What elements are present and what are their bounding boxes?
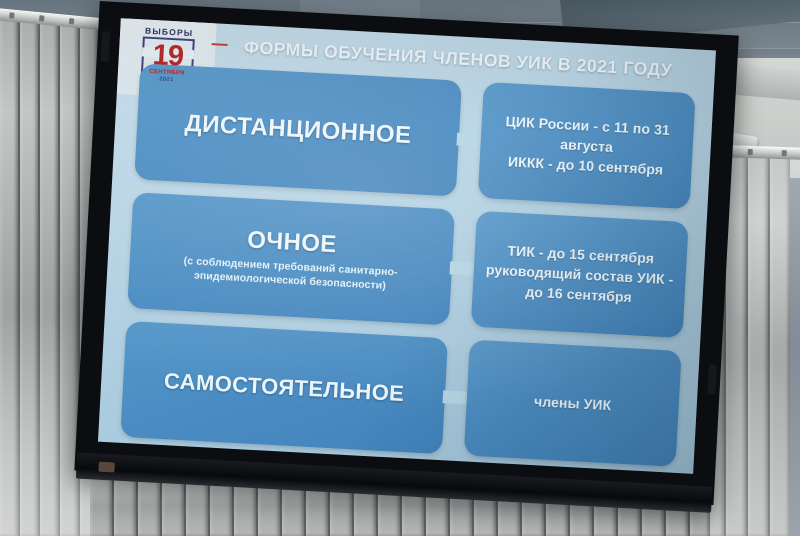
screen-clip bbox=[101, 31, 111, 61]
photo-scene: ВЫБОРЫ 19 СЕНТЯБРЯ 2021 ФОРМЫ ОБУЧЕНИЯ Ч… bbox=[0, 0, 800, 536]
projection-screen: ВЫБОРЫ 19 СЕНТЯБРЯ 2021 ФОРМЫ ОБУЧЕНИЯ Ч… bbox=[73, 1, 739, 527]
logo-day-number: 19 bbox=[143, 40, 193, 73]
form-box: САМОСТОЯТЕЛЬНОЕ bbox=[120, 321, 448, 454]
diagram-row: ДИСТАНЦИОННОЕ ЦИК России - с 11 по 31 ав… bbox=[134, 63, 695, 209]
diagram-row: САМОСТОЯТЕЛЬНОЕ члены УИК bbox=[120, 321, 681, 467]
deadline-line: члены УИК bbox=[534, 391, 612, 415]
form-name: ДИСТАНЦИОННОЕ bbox=[184, 111, 412, 148]
form-note: (с соблюдением требований санитарно-эпид… bbox=[139, 251, 442, 295]
slide-canvas: ВЫБОРЫ 19 СЕНТЯБРЯ 2021 ФОРМЫ ОБУЧЕНИЯ Ч… bbox=[98, 18, 716, 474]
deadline-box: ТИК - до 15 сентября руководящий состав … bbox=[471, 211, 689, 338]
form-box: ОЧНОЕ (с соблюдением требований санитарн… bbox=[127, 192, 455, 325]
form-name: ОЧНОЕ bbox=[247, 228, 338, 258]
deadline-box: ЦИК России - с 11 по 31 августа ИККК - д… bbox=[478, 82, 696, 209]
screen-bar-nub bbox=[98, 462, 115, 473]
logo-frame: 19 СЕНТЯБРЯ 2021 bbox=[140, 36, 195, 87]
screen-clip bbox=[707, 365, 717, 395]
deadline-box: члены УИК bbox=[464, 340, 682, 467]
diagram-rows: ДИСТАНЦИОННОЕ ЦИК России - с 11 по 31 ав… bbox=[120, 63, 696, 473]
form-name: САМОСТОЯТЕЛЬНОЕ bbox=[163, 370, 404, 406]
logo-word-vybory: ВЫБОРЫ bbox=[130, 25, 208, 39]
diagram-row: ОЧНОЕ (с соблюдением требований санитарн… bbox=[127, 192, 688, 338]
